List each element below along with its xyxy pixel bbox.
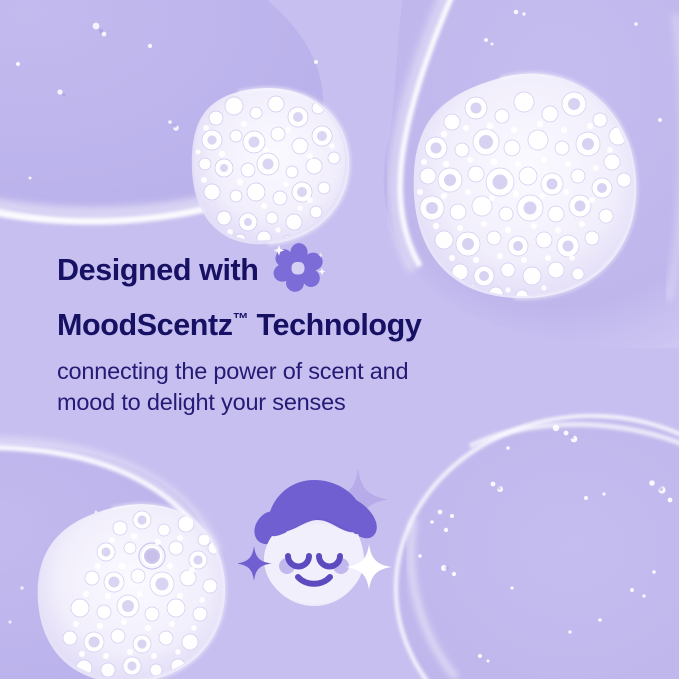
brand-name: MoodScentz	[57, 308, 233, 342]
subheadline: connecting the power of scent and mood t…	[57, 356, 527, 419]
subheadline-line-1: connecting the power of scent and	[57, 356, 527, 387]
subheadline-line-2: mood to delight your senses	[57, 387, 527, 418]
foam-cluster-bottom-left	[30, 490, 235, 679]
sparkle-icon	[318, 268, 325, 275]
page-title: Designed with	[57, 255, 259, 286]
trademark-symbol: ™	[233, 311, 249, 328]
promo-banner: Designed with	[0, 0, 679, 679]
technology-word: Technology	[248, 308, 421, 342]
spa-face-mascot-icon	[238, 462, 406, 622]
brand-technology-headline: MoodScentz™ Technology	[57, 308, 527, 342]
flower-icon	[273, 241, 327, 295]
gel-droplet-bottom-right	[396, 416, 679, 679]
copy-block: Designed with	[57, 248, 527, 419]
headline-line-1-row: Designed with	[57, 248, 527, 292]
gel-blob-bottom-left	[0, 442, 216, 679]
gel-blob-top-left	[0, 0, 340, 222]
foam-cluster-top-left	[186, 72, 362, 254]
